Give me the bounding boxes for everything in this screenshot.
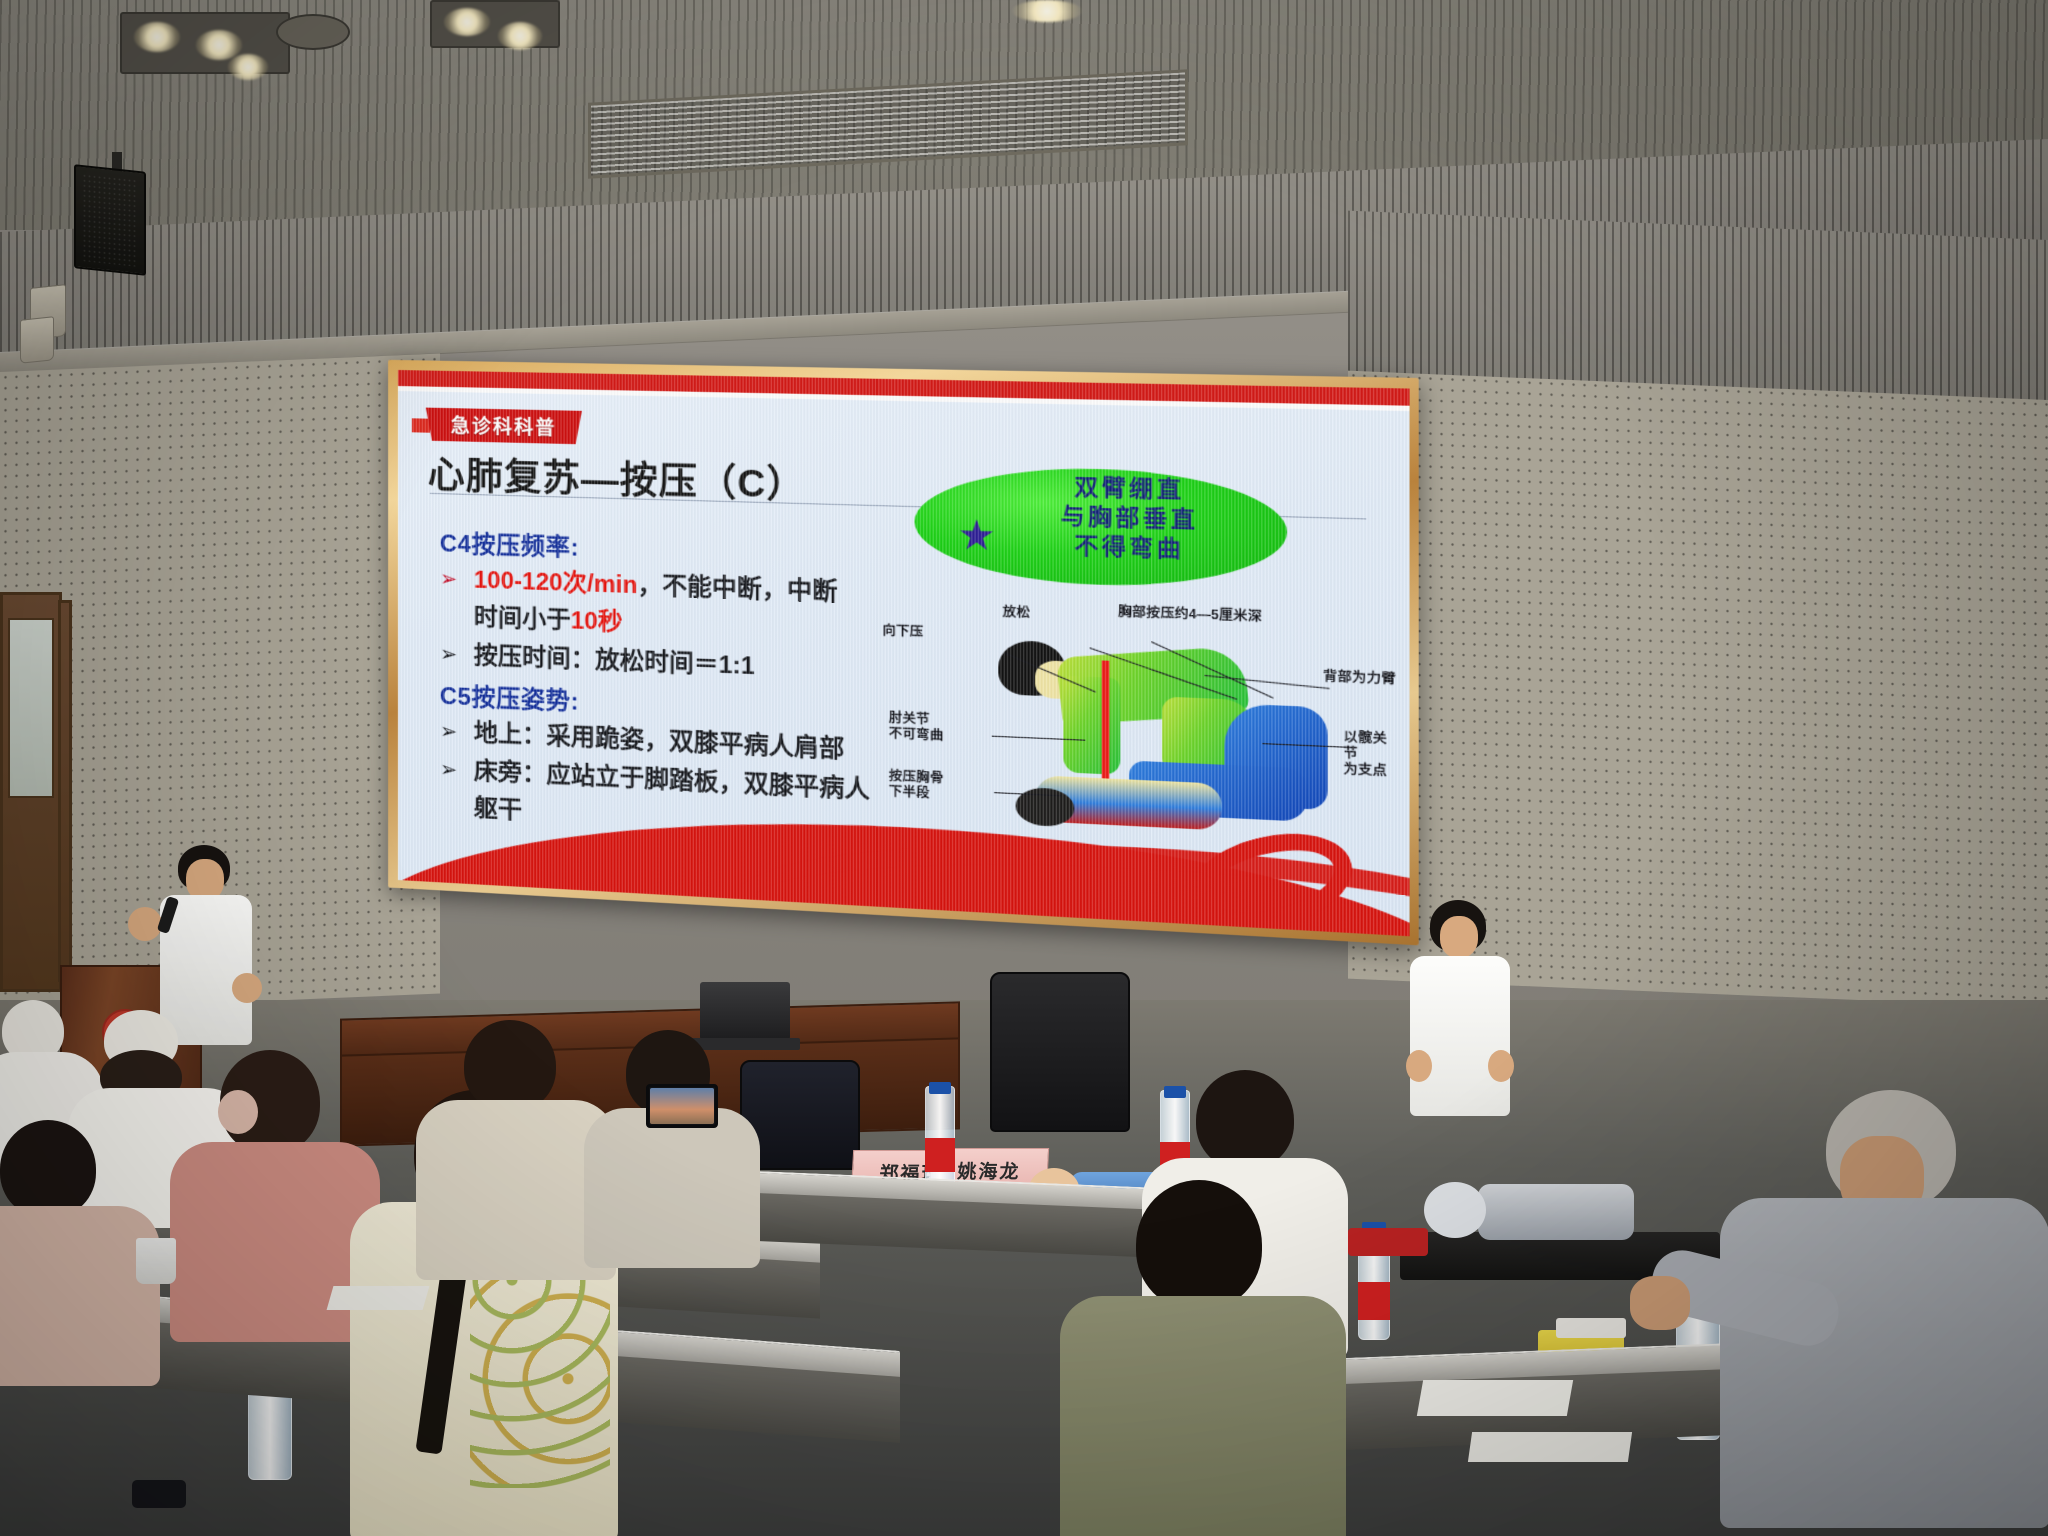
ceiling-dome-fixture: [276, 14, 350, 50]
cont-text: 时间小于: [474, 604, 571, 635]
label-depth: 胸部按压约4—5厘米深: [1118, 604, 1262, 625]
ceiling-light-3: [228, 54, 268, 80]
audience-hair: [464, 1020, 556, 1112]
bullet-arrow-icon: ➢: [440, 643, 460, 665]
demonstrator-hand-left: [1406, 1050, 1432, 1082]
audience-member-filming: [590, 1020, 750, 1240]
wall-sconce-2: [20, 316, 54, 364]
smartphone-screen: [650, 1088, 714, 1124]
audience-body: [1720, 1198, 2048, 1528]
audience-body: [1060, 1296, 1346, 1536]
manikin-torso: [1478, 1184, 1634, 1240]
bottle-label: [1358, 1282, 1390, 1320]
kit-paper: [1556, 1318, 1626, 1338]
audience-hair: [1136, 1180, 1262, 1310]
paper-handout[interactable]: [1468, 1432, 1632, 1462]
slide-surface: 急诊科科普 心肺复苏—按压（C） C4按压频率: ➢ 100-120次/min，…: [398, 370, 1410, 936]
audience-member: [420, 1020, 610, 1250]
audience-member: [170, 1050, 370, 1310]
slide-tag-ear: [412, 418, 430, 432]
ceiling-light-4: [444, 8, 490, 36]
stage-chair[interactable]: [990, 972, 1130, 1132]
audience-member: [0, 1120, 150, 1360]
oval-callout-text: 双臂绷直 与胸部垂直 不得弯曲: [987, 471, 1273, 568]
hair-clip-icon: [218, 1090, 258, 1134]
label-sternum-lower: 按压胸骨 下半段: [889, 769, 944, 803]
paper-handout[interactable]: [1417, 1380, 1573, 1416]
presenter-hand-right: [232, 973, 262, 1003]
ceiling-light-1: [134, 22, 180, 52]
bullet-arrow-icon: ➢: [440, 568, 460, 590]
audience-member: [1060, 1180, 1340, 1536]
bottle-cap: [929, 1082, 951, 1094]
audience-hair: [1196, 1070, 1294, 1170]
wall-speaker: [74, 164, 146, 276]
label-back-lever: 背部为力臂: [1323, 669, 1396, 688]
bullet-arrow-icon: ➢: [440, 759, 460, 781]
bullet-rest: ，不能中断，中断: [638, 572, 838, 606]
paper-handout[interactable]: [327, 1286, 430, 1310]
bottle-label: [925, 1138, 955, 1172]
door-mullion: [58, 600, 72, 982]
presenter-hand-left: [128, 907, 162, 941]
speaker-grille: [82, 173, 138, 267]
slide-title: 心肺复苏—按压（C）: [428, 445, 806, 510]
door-left-glass: [8, 618, 54, 798]
bullet-text: 100-120次/min，不能中断，中断: [474, 564, 838, 609]
bullet-emphasis: 100-120次/min: [474, 566, 638, 599]
label-press-down: 向下压: [883, 623, 924, 640]
slide-tag-badge: 急诊科科普: [426, 408, 582, 445]
audience-body: [584, 1108, 760, 1268]
led-presentation-screen[interactable]: 急诊科科普 心肺复苏—按压（C） C4按压频率: ➢ 100-120次/min，…: [398, 370, 1410, 936]
bullet-arrow-icon: ➢: [440, 721, 460, 743]
label-release: 放松: [1003, 605, 1031, 622]
audience-hair: [0, 1120, 96, 1218]
audience-body: [170, 1142, 380, 1342]
ceiling-light-2: [196, 30, 242, 60]
demonstrator-face: [1440, 916, 1478, 958]
audience-body: [0, 1206, 160, 1386]
demonstrator-nurse: [1400, 900, 1520, 1160]
label-elbow-straight: 肘关节 不可弯曲: [889, 710, 944, 743]
bullet-text: 按压时间：放松时间＝1:1: [474, 640, 755, 684]
torso-manikin[interactable]: [1418, 1180, 1638, 1250]
ceiling-light-6: [1012, 0, 1082, 22]
audience-member: [1740, 1090, 2040, 1530]
manikin-head: [1424, 1182, 1486, 1238]
slide-tag-label: 急诊科科普: [451, 411, 557, 441]
demonstrator-uniform: [1410, 956, 1510, 1116]
audience-hand: [1630, 1276, 1690, 1330]
equipment-bag-red[interactable]: [1348, 1228, 1428, 1256]
smartphone-on-desk[interactable]: [132, 1480, 186, 1508]
paper-cup[interactable]: [136, 1238, 176, 1284]
label-hip-fulcrum: 以髋关节 为支点: [1344, 729, 1396, 779]
lecture-hall-scene: 急诊科科普 心肺复苏—按压（C） C4按压频率: ➢ 100-120次/min，…: [0, 0, 2048, 1536]
ceiling-light-5: [498, 22, 542, 50]
cont-emphasis: 10秒: [571, 607, 623, 636]
wall-slat-band-right: [1348, 211, 2048, 400]
demonstrator-hand-right: [1488, 1050, 1514, 1082]
